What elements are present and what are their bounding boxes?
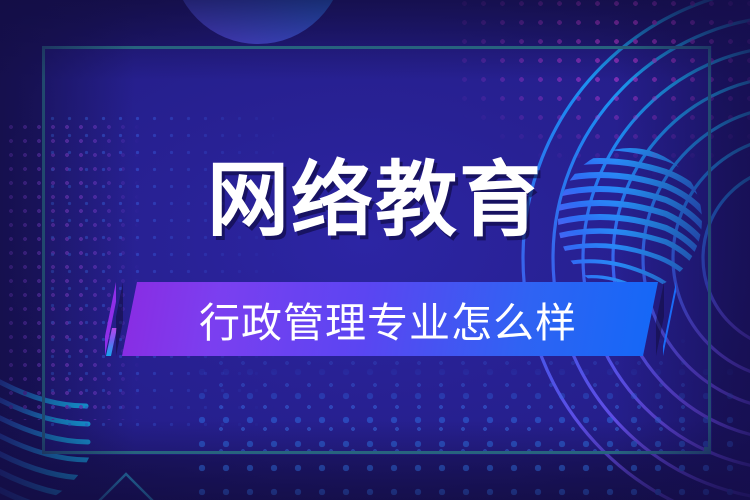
subtitle-banner: 行政管理专业怎么样 — [0, 282, 750, 362]
banner-body: 行政管理专业怎么样 — [122, 282, 658, 356]
page-title-text: 网络教育 — [207, 158, 543, 244]
page-title: 网络教育 — [0, 158, 750, 244]
banner-left-gap — [116, 282, 123, 356]
poster-canvas: 网络教育 行政管理专业怎么样 — [0, 0, 750, 500]
frame-corner-notch — [704, 447, 709, 452]
chevron-outline-decoration — [96, 470, 176, 500]
teal-frame-border — [42, 46, 711, 454]
banner-right-gap — [656, 282, 664, 356]
banner-right-slash — [663, 282, 676, 356]
subtitle-text: 行政管理专业怎么样 — [199, 289, 577, 349]
